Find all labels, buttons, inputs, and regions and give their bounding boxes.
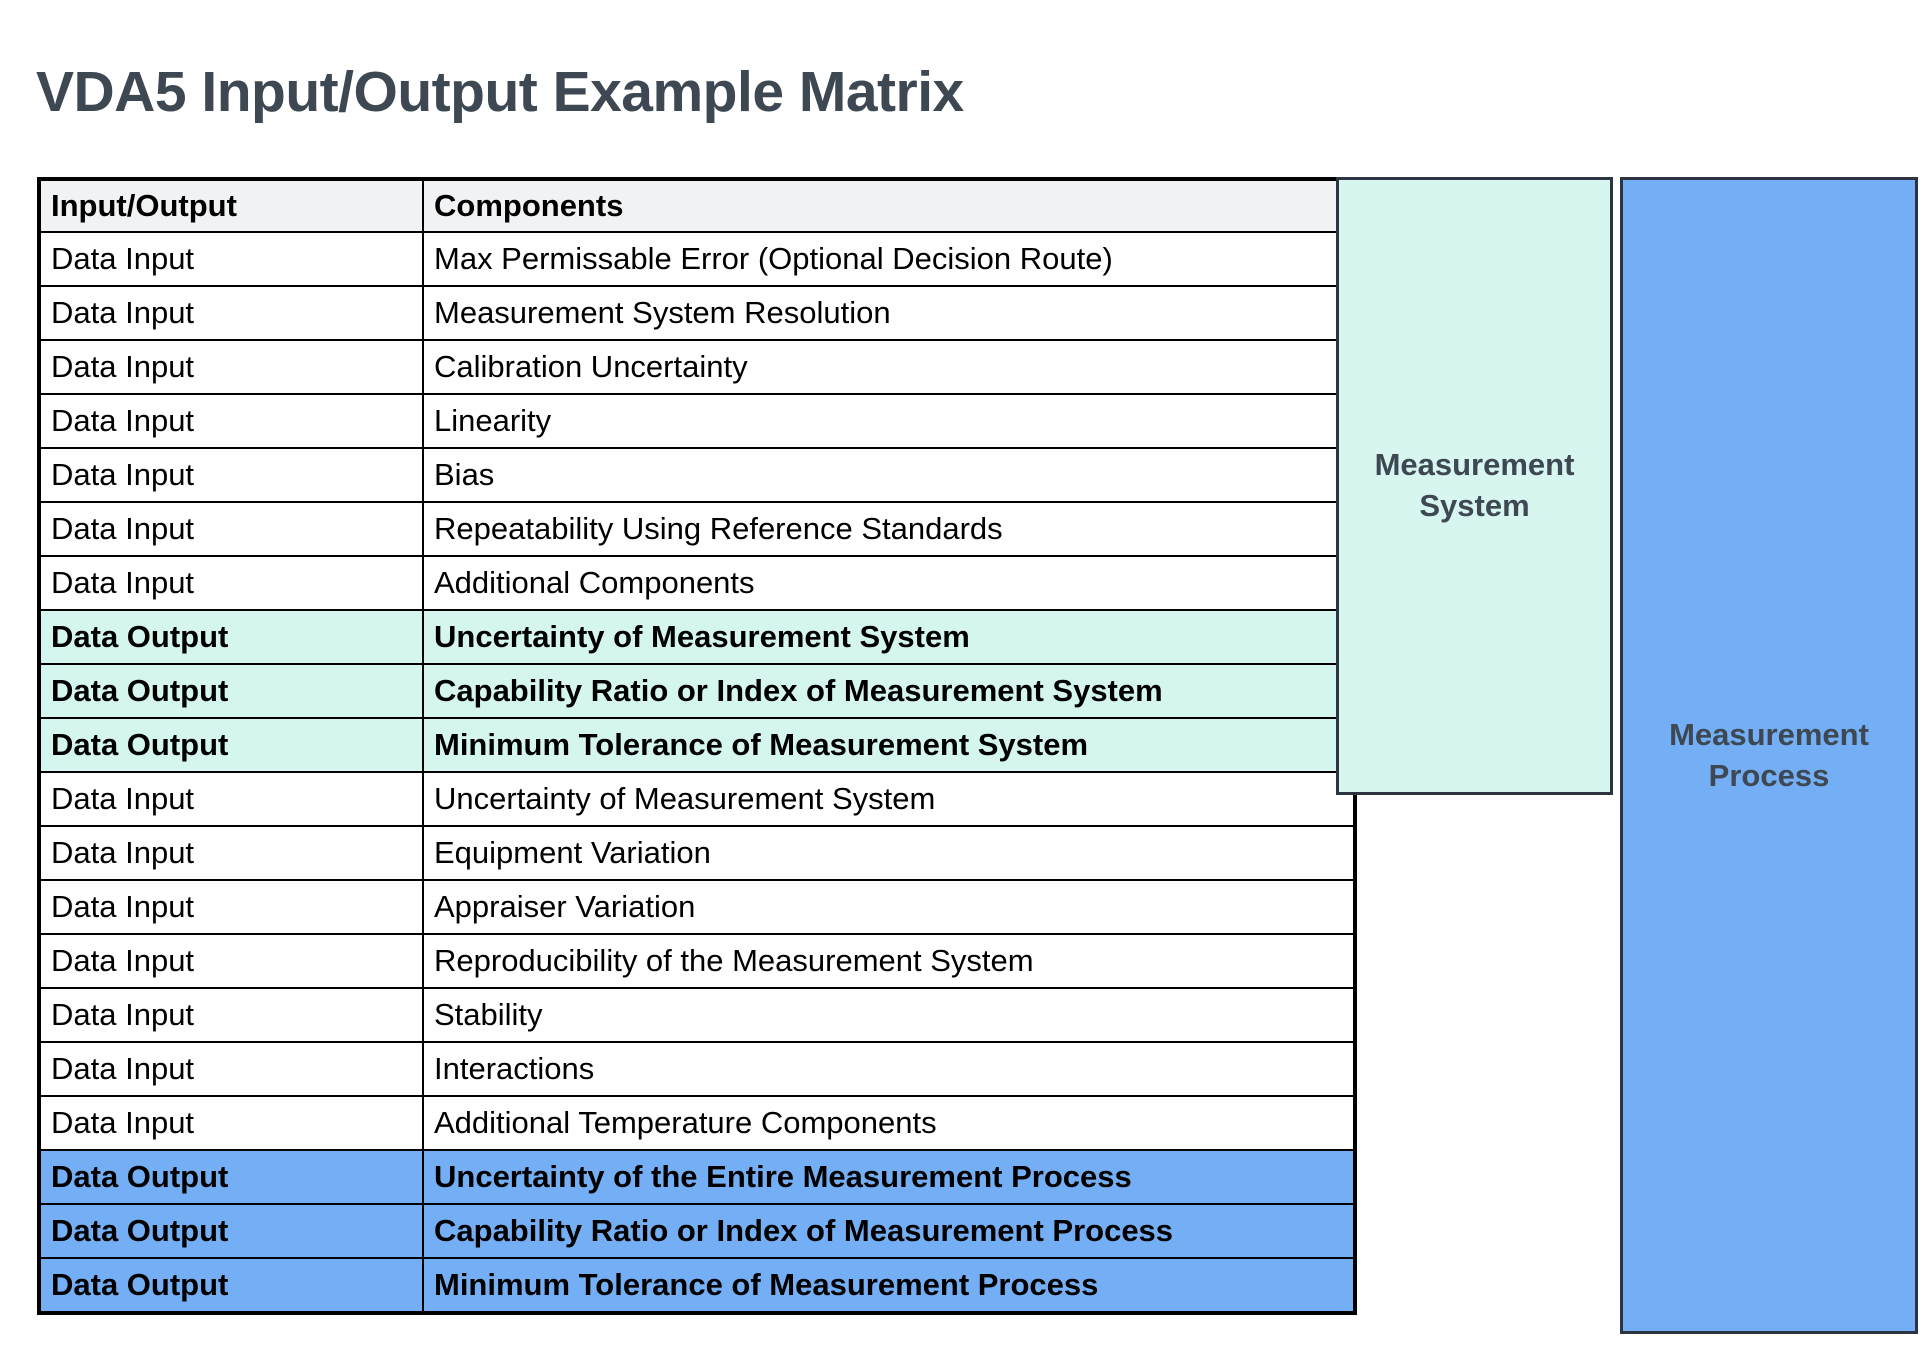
cell-component: Measurement System Resolution xyxy=(423,286,1355,340)
cell-input-output: Data Output xyxy=(39,1150,423,1204)
cell-input-output: Data Input xyxy=(39,880,423,934)
cell-component: Bias xyxy=(423,448,1355,502)
cell-component: Equipment Variation xyxy=(423,826,1355,880)
table-row: Data InputStability xyxy=(39,988,1355,1042)
cell-input-output: Data Input xyxy=(39,286,423,340)
page-title: VDA5 Input/Output Example Matrix xyxy=(36,59,964,125)
table-row: Data OutputCapability Ratio or Index of … xyxy=(39,664,1355,718)
group-box-measurement-system-label: Measurement System xyxy=(1339,445,1610,527)
cell-input-output: Data Input xyxy=(39,826,423,880)
table-row: Data InputRepeatability Using Reference … xyxy=(39,502,1355,556)
table-row: Data OutputUncertainty of the Entire Mea… xyxy=(39,1150,1355,1204)
cell-input-output: Data Input xyxy=(39,772,423,826)
column-header-components: Components xyxy=(423,179,1355,232)
group-box-measurement-system: Measurement System xyxy=(1336,177,1613,795)
cell-component: Repeatability Using Reference Standards xyxy=(423,502,1355,556)
cell-input-output: Data Input xyxy=(39,556,423,610)
table-row: Data InputInteractions xyxy=(39,1042,1355,1096)
cell-input-output: Data Input xyxy=(39,394,423,448)
cell-input-output: Data Output xyxy=(39,1258,423,1313)
column-header-input-output: Input/Output xyxy=(39,179,423,232)
cell-component: Reproducibility of the Measurement Syste… xyxy=(423,934,1355,988)
table-row: Data OutputCapability Ratio or Index of … xyxy=(39,1204,1355,1258)
cell-input-output: Data Input xyxy=(39,1042,423,1096)
cell-component: Uncertainty of Measurement System xyxy=(423,772,1355,826)
cell-input-output: Data Output xyxy=(39,718,423,772)
table-row: Data OutputMinimum Tolerance of Measurem… xyxy=(39,1258,1355,1313)
cell-component: Interactions xyxy=(423,1042,1355,1096)
cell-input-output: Data Output xyxy=(39,610,423,664)
cell-component: Calibration Uncertainty xyxy=(423,340,1355,394)
table-row: Data OutputMinimum Tolerance of Measurem… xyxy=(39,718,1355,772)
cell-input-output: Data Input xyxy=(39,1096,423,1150)
group-box-measurement-process-label: Measurement Process xyxy=(1623,715,1915,797)
table-row: Data InputAdditional Components xyxy=(39,556,1355,610)
table-row: Data InputCalibration Uncertainty xyxy=(39,340,1355,394)
cell-component: Appraiser Variation xyxy=(423,880,1355,934)
table-row: Data InputAdditional Temperature Compone… xyxy=(39,1096,1355,1150)
table-row: Data InputMax Permissable Error (Optiona… xyxy=(39,232,1355,286)
table-row: Data InputAppraiser Variation xyxy=(39,880,1355,934)
group-box-measurement-process: Measurement Process xyxy=(1620,177,1918,1334)
table-row: Data InputLinearity xyxy=(39,394,1355,448)
table-row: Data InputEquipment Variation xyxy=(39,826,1355,880)
cell-component: Minimum Tolerance of Measurement System xyxy=(423,718,1355,772)
cell-input-output: Data Output xyxy=(39,1204,423,1258)
table-header-row: Input/Output Components xyxy=(39,179,1355,232)
cell-component: Minimum Tolerance of Measurement Process xyxy=(423,1258,1355,1313)
cell-component: Additional Components xyxy=(423,556,1355,610)
cell-component: Uncertainty of Measurement System xyxy=(423,610,1355,664)
cell-component: Max Permissable Error (Optional Decision… xyxy=(423,232,1355,286)
cell-component: Capability Ratio or Index of Measurement… xyxy=(423,664,1355,718)
cell-input-output: Data Input xyxy=(39,340,423,394)
cell-input-output: Data Input xyxy=(39,502,423,556)
vda5-input-output-matrix: Input/Output Components Data InputMax Pe… xyxy=(37,177,1357,1315)
table-row: Data InputUncertainty of Measurement Sys… xyxy=(39,772,1355,826)
cell-component: Capability Ratio or Index of Measurement… xyxy=(423,1204,1355,1258)
cell-component: Additional Temperature Components xyxy=(423,1096,1355,1150)
table-row: Data InputBias xyxy=(39,448,1355,502)
cell-component: Uncertainty of the Entire Measurement Pr… xyxy=(423,1150,1355,1204)
cell-input-output: Data Input xyxy=(39,232,423,286)
cell-input-output: Data Input xyxy=(39,988,423,1042)
table-row: Data InputReproducibility of the Measure… xyxy=(39,934,1355,988)
table-row: Data OutputUncertainty of Measurement Sy… xyxy=(39,610,1355,664)
cell-component: Linearity xyxy=(423,394,1355,448)
cell-input-output: Data Output xyxy=(39,664,423,718)
table-row: Data InputMeasurement System Resolution xyxy=(39,286,1355,340)
table-body: Data InputMax Permissable Error (Optiona… xyxy=(39,232,1355,1313)
cell-input-output: Data Input xyxy=(39,448,423,502)
cell-input-output: Data Input xyxy=(39,934,423,988)
cell-component: Stability xyxy=(423,988,1355,1042)
